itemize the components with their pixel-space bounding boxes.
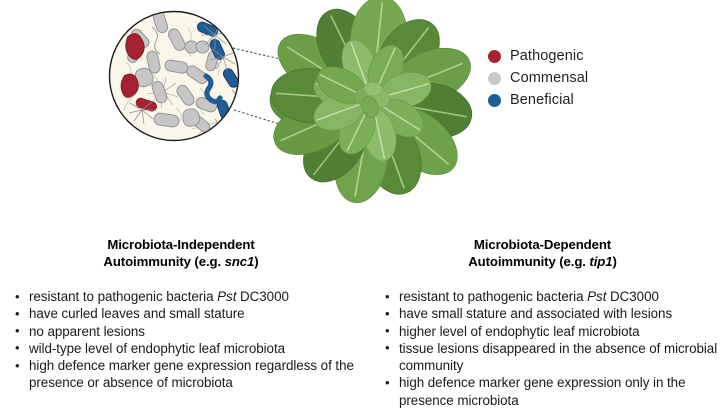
legend-item-pathogenic: Pathogenic <box>488 45 678 67</box>
heading-line-2-suffix: ) <box>254 254 258 269</box>
beneficial-color-dot <box>488 94 501 107</box>
heading-microbiota-dependent: Microbiota-Dependent Autoimmunity (e.g. … <box>365 236 720 270</box>
microbe-type-legend: Pathogenic Commensal Beneficial <box>488 45 678 111</box>
bullet-list-dependent: resistant to pathogenic bacteria Pst DC3… <box>365 288 720 409</box>
bullet-text: no apparent lesions <box>29 324 145 339</box>
legend-label-beneficial: Beneficial <box>510 92 574 108</box>
column-microbiota-dependent: Microbiota-Dependent Autoimmunity (e.g. … <box>365 215 720 409</box>
bullet-text-italic: Pst <box>217 289 236 304</box>
list-item: resistant to pathogenic bacteria Pst DC3… <box>13 288 362 305</box>
list-item: tissue lesions disappeared in the absenc… <box>383 340 720 375</box>
bullet-text-suffix: DC3000 <box>236 289 289 304</box>
list-item: wild-type level of endophytic leaf micro… <box>13 340 362 357</box>
list-item: resistant to pathogenic bacteria Pst DC3… <box>383 288 720 305</box>
bullet-text-suffix: DC3000 <box>606 289 659 304</box>
microbial-community-inset <box>110 10 241 141</box>
heading-gene-snc1: snc1 <box>225 254 255 269</box>
bullet-text: high defence marker gene expression rega… <box>29 358 354 390</box>
bullet-text-prefix: resistant to pathogenic bacteria <box>29 289 217 304</box>
list-item: no apparent lesions <box>13 323 362 340</box>
legend-item-beneficial: Beneficial <box>488 89 678 111</box>
heading-line-2-suffix: ) <box>612 254 616 269</box>
legend-label-commensal: Commensal <box>510 70 588 86</box>
legend-label-pathogenic: Pathogenic <box>510 48 584 64</box>
heading-gene-tip1: tip1 <box>589 254 612 269</box>
bullet-text: have curled leaves and small stature <box>29 306 245 321</box>
bullet-text: high defence marker gene expression only… <box>399 375 685 407</box>
bullet-list-independent: resistant to pathogenic bacteria Pst DC3… <box>0 288 362 392</box>
list-item: high defence marker gene expression rega… <box>13 357 362 392</box>
comparison-columns: Microbiota-Independent Autoimmunity (e.g… <box>0 215 720 420</box>
pathogenic-color-dot <box>488 50 501 63</box>
list-item: high defence marker gene expression only… <box>383 374 720 409</box>
heading-line-1: Microbiota-Dependent <box>474 237 611 252</box>
bullet-text: wild-type level of endophytic leaf micro… <box>29 341 285 356</box>
heading-line-1: Microbiota-Independent <box>107 237 254 252</box>
bullet-text: tissue lesions disappeared in the absenc… <box>399 341 717 373</box>
heading-line-2-prefix: Autoimmunity (e.g. <box>103 254 224 269</box>
bullet-text-prefix: resistant to pathogenic bacteria <box>399 289 587 304</box>
list-item: have small stature and associated with l… <box>383 305 720 322</box>
list-item: higher level of endophytic leaf microbio… <box>383 323 720 340</box>
heading-microbiota-independent: Microbiota-Independent Autoimmunity (e.g… <box>0 236 362 270</box>
heading-line-2-prefix: Autoimmunity (e.g. <box>468 254 589 269</box>
commensal-color-dot <box>488 72 501 85</box>
legend-item-commensal: Commensal <box>488 67 678 89</box>
column-microbiota-independent: Microbiota-Independent Autoimmunity (e.g… <box>0 215 362 392</box>
bullet-text: have small stature and associated with l… <box>399 306 672 321</box>
illustration-panel: Pathogenic Commensal Beneficial <box>0 0 720 215</box>
bullet-text: higher level of endophytic leaf microbio… <box>399 324 640 339</box>
figure-root: Pathogenic Commensal Beneficial Microbio… <box>0 0 720 420</box>
list-item: have curled leaves and small stature <box>13 305 362 322</box>
arabidopsis-rosette <box>265 0 479 207</box>
bullet-text-italic: Pst <box>587 289 606 304</box>
